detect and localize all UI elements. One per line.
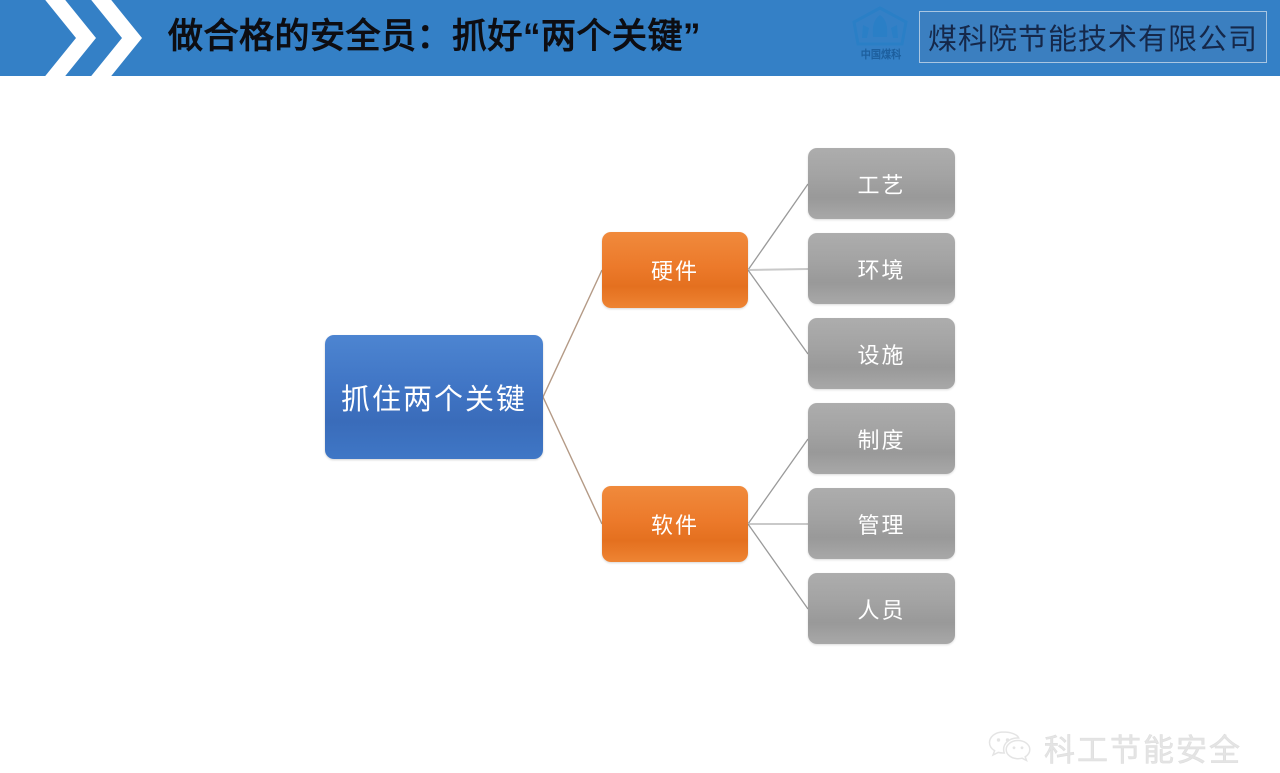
node-leaf-management[interactable]: 管理 <box>808 488 955 559</box>
diagram-canvas: 抓住两个关键 硬件 软件 工艺 环境 设施 制度 管理 人员 科工节能安全 <box>0 76 1280 720</box>
watermark: 科工节能安全 <box>988 721 1258 773</box>
node-leaf-process[interactable]: 工艺 <box>808 148 955 219</box>
chevron-right-icon-2 <box>86 0 142 76</box>
company-name-box: 煤科院节能技术有限公司 <box>919 11 1267 63</box>
double-chevron-right-icon <box>40 0 175 76</box>
slide-header: 做合格的安全员：抓好“两个关键” 中国煤科 煤科院节能技术有限公司 <box>0 0 1280 76</box>
node-leaf-personnel[interactable]: 人员 <box>808 573 955 644</box>
diagram-connectors <box>0 76 1280 720</box>
china-coal-emblem-icon <box>850 6 910 48</box>
brand-logo-text: 中国煤科 <box>849 48 913 62</box>
brand-logo: 中国煤科 <box>846 6 916 68</box>
company-name-text: 煤科院节能技术有限公司 <box>928 16 1258 58</box>
node-branch-software[interactable]: 软件 <box>602 486 748 562</box>
node-leaf-facility[interactable]: 设施 <box>808 318 955 389</box>
node-leaf-environment[interactable]: 环境 <box>808 233 955 304</box>
node-branch-hardware[interactable]: 硬件 <box>602 232 748 308</box>
node-leaf-regulation[interactable]: 制度 <box>808 403 955 474</box>
wechat-icon <box>988 728 1034 766</box>
page-title: 做合格的安全员：抓好“两个关键” <box>168 13 701 61</box>
watermark-text: 科工节能安全 <box>1044 725 1242 770</box>
node-root[interactable]: 抓住两个关键 <box>325 335 543 459</box>
